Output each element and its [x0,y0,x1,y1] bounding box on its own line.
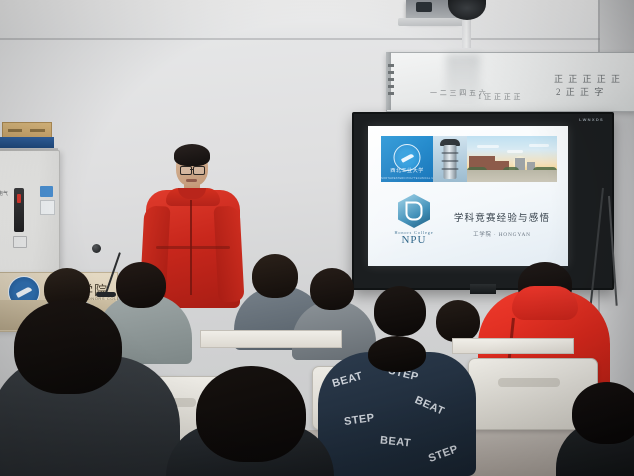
projector-mount-plate [398,18,470,26]
student-head-7 [374,286,426,336]
display-foot [470,284,496,294]
student-head-4b [368,336,426,372]
microphone-icon [92,244,101,253]
cloud-3 [529,144,549,147]
glasses-bridge-icon [190,169,193,170]
classroom-photo: 一 二 三 四 五 六 1 正 正 正 正 正 正 正 正 正 2 正 正 字 … [0,0,634,476]
whiteboard-tally-1: 正 正 正 正 正 [554,72,622,85]
desk-row-1 [200,330,342,348]
wall-ceiling-seam [0,38,634,40]
student-head-8 [436,300,480,342]
jacket-text-1: BEAT [331,370,364,390]
tower-ring-3 [442,168,459,170]
student-head-6 [310,268,354,310]
plaza-ground [467,170,557,182]
campus-tower-photo [433,136,467,182]
tower-body [444,145,457,179]
display-brand-label: LWNXDS [579,117,604,122]
jacket-text-4: STEP [343,412,375,428]
student-head-3 [116,262,166,308]
slide-banner: 西北工业大学 NORTHWESTERN POLYTECHNICAL UNIVER… [381,136,557,182]
projector-lens-icon [416,2,432,12]
student-head-5 [252,254,298,298]
jacket-text-5: BEAT [379,434,411,449]
student-head-4 [196,366,306,462]
campus-panorama-photo [467,136,557,182]
cabinet-side-label: 电气 [0,190,8,197]
box-tape-2 [30,129,45,132]
cloud-2 [507,150,523,153]
npu-abbreviation: NPU [390,235,438,246]
hoodie-cowl [512,286,578,320]
microphone-base [96,292,116,297]
whiteboard-marker-tray [388,64,394,98]
power-led-icon [17,194,21,203]
presenter-mouth [186,179,197,182]
water-dispenser-cabinet[interactable] [0,150,60,282]
university-name-english: NORTHWESTERN POLYTECHNICAL UNIVERSITY [381,177,433,180]
university-seal-block: 西北工业大学 NORTHWESTERN POLYTECHNICAL UNIVER… [381,136,433,182]
student-head-10 [572,382,634,444]
presenter-right-arm [214,205,245,302]
jacket-text-3: BEAT [413,394,446,418]
whiteboard-text-2: 1 正 正 正 正 [478,92,521,102]
whiteboard-smudge [446,54,480,106]
university-name: 西北工业大学 [381,167,433,174]
npu-hex-icon [398,194,430,228]
glasses-right-lens-icon [193,166,205,175]
chair-3-slot [498,378,560,387]
slide-subtitle: 工学院 · HONGYAN [446,230,558,238]
ceiling [0,0,634,40]
presentation-slide: 西北工业大学 NORTHWESTERN POLYTECHNICAL UNIVER… [368,126,568,266]
desk-row-2 [452,338,574,354]
student-head-1 [14,300,122,394]
jacket-pocket-seam [156,246,230,249]
cloud-1 [477,145,499,148]
whiteboard-tally-2: 2 正 正 字 [556,85,605,98]
honors-college-logo: Honors College NPU [390,194,438,246]
wall-display[interactable]: LWNXDS 西北工业大学 NORTHWESTERN POLYTECHNICAL… [352,112,614,290]
cabinet-keypad[interactable] [13,236,27,248]
cabinet-white-sticker [40,200,55,215]
tower-ring-2 [442,160,459,162]
presenter-hair [174,144,210,166]
box-tape-1 [8,129,22,132]
cabinet-blue-sticker [40,186,53,197]
tower-ring-1 [442,152,459,154]
jacket-text-6: STEP [427,443,460,465]
glasses-left-lens-icon [180,166,192,175]
slide-title: 学科竞赛经验与感悟 [446,210,558,224]
